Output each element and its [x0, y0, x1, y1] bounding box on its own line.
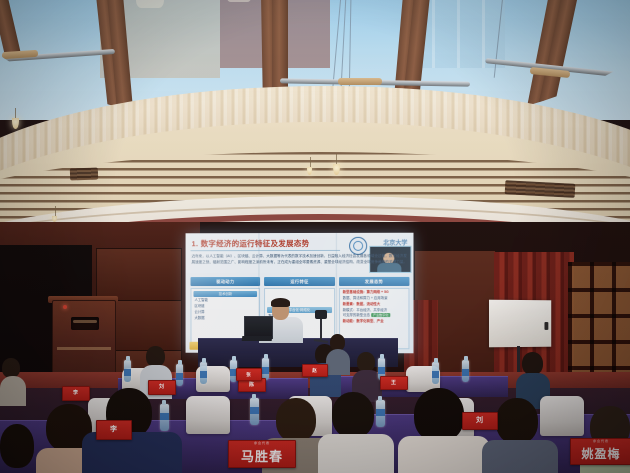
person-torso — [398, 436, 490, 473]
placard-name: 马胜春 — [241, 449, 283, 464]
podium-indicator-light — [63, 305, 67, 309]
column-item: 人工智能 — [194, 298, 256, 303]
person-head — [496, 398, 538, 444]
placard-caption: 参会代表 — [571, 439, 630, 443]
placard-name: 张 — [246, 372, 252, 377]
flipchart-clip — [544, 322, 548, 330]
support-cable — [349, 0, 352, 88]
water-bottle — [432, 362, 439, 384]
laptop-keyboard[interactable] — [242, 336, 273, 341]
name-placard: 刘 — [148, 380, 176, 395]
person-head — [357, 352, 375, 372]
name-placard-yao-yingmei: 参会代表 姚盈梅 — [570, 438, 630, 465]
water-bottle — [376, 400, 385, 427]
item-chip: 产业数字化 — [371, 313, 391, 317]
name-placard: 李 — [96, 420, 132, 440]
statue-silhouette — [136, 0, 164, 8]
person-head — [522, 352, 543, 375]
column-item: 可支撑的新型业态 产业数字化 — [343, 313, 406, 318]
placard-name: 刘 — [159, 384, 165, 390]
camera-tripod — [320, 318, 322, 342]
placard-name: 刘 — [476, 417, 484, 424]
column-item: 新模式：平台经济、共享经济 — [343, 308, 406, 313]
statue-silhouette — [226, 0, 252, 2]
item-keyword: 新型基础设施：算力网络 + 5G — [343, 290, 389, 294]
item-keyword: 新动能：数字化转型、产业 — [343, 319, 384, 323]
water-bottle — [160, 404, 169, 431]
item-text: 可支撑的新型业态 — [343, 313, 370, 317]
column-heading: 发展态势 — [339, 277, 410, 286]
column-item: 数据、算法和算力 + 应用场景 — [343, 296, 406, 301]
bottle-label — [432, 371, 439, 378]
column-item: 云计算 — [194, 310, 256, 315]
presenter-hair — [271, 298, 290, 307]
placard-name: 姚盈梅 — [581, 447, 620, 461]
name-placard: 赵 — [302, 364, 328, 377]
placard-name: 李 — [110, 426, 118, 433]
bottle-label — [462, 369, 469, 376]
person-head — [146, 346, 165, 367]
bottle-label — [376, 409, 385, 416]
flipchart-stand-leg — [517, 346, 520, 372]
placard-name: 赵 — [312, 368, 318, 373]
bottle-label — [378, 367, 385, 374]
water-bottle — [462, 360, 469, 382]
flipchart-whiteboard[interactable] — [489, 300, 551, 348]
person-head — [2, 358, 20, 378]
audience-chair — [186, 396, 230, 434]
water-bottle — [200, 362, 207, 384]
column-heading: 运行特征 — [264, 277, 334, 286]
name-placard: 刘 — [462, 412, 498, 430]
column-heading: 驱动动力 — [191, 277, 261, 286]
column-subbox: 技术创新 — [193, 291, 257, 297]
water-bottle — [262, 358, 269, 380]
wood-panel — [96, 248, 182, 302]
bottle-label — [124, 369, 131, 376]
person-head — [332, 392, 374, 438]
person-head — [276, 398, 316, 442]
bottle-label — [200, 371, 207, 378]
placard-caption: 参会代表 — [229, 441, 295, 445]
window-mullion — [0, 0, 21, 57]
name-placard: 李 — [62, 386, 90, 401]
column-item: 新型基础设施：算力网络 + 5G — [343, 290, 406, 295]
water-bottle — [250, 398, 259, 425]
university-seal-icon — [349, 237, 367, 255]
placard-name: 陈 — [249, 382, 255, 388]
placard-name: 李 — [73, 390, 79, 396]
bottle-label — [262, 367, 269, 374]
water-bottle — [176, 364, 183, 386]
person-torso — [0, 376, 26, 406]
window-rail-wood — [338, 78, 382, 85]
column-item: 新要素：数据，流动性大 — [343, 302, 406, 307]
podium-trim — [57, 347, 111, 350]
slide-title: 1. 数字经济的运行特征及发展态势 — [192, 238, 310, 249]
column-item: 新动能：数字化转型、产业 — [343, 319, 406, 324]
bottle-label — [176, 373, 183, 380]
bottle-label — [250, 407, 259, 414]
slide-title-underline — [191, 250, 341, 251]
slide-body-text: 近年来，以人工智能（AI）、区块链、云计算、大数据等为代表的数字技术加速创新，日… — [192, 254, 410, 265]
person-torso — [318, 434, 394, 473]
conference-hall-photo: 1. 数字经济的运行特征及发展态势 北京大学 近年来，以人工智能（AI）、区块链… — [0, 0, 630, 473]
name-placard: 张 — [236, 368, 262, 381]
support-cable — [341, 0, 349, 88]
person-head — [414, 388, 464, 442]
person-torso — [482, 440, 558, 473]
name-placard: 王 — [380, 376, 408, 390]
name-placard-ma-shengchun: 参会代表 马胜春 — [228, 440, 296, 468]
column-item: 区块链 — [194, 304, 256, 309]
ceiling-air-vent — [70, 168, 98, 181]
person-head — [0, 424, 34, 468]
item-keyword: 新要素：数据，流动性大 — [343, 302, 380, 306]
podium-recess — [71, 317, 99, 330]
person-torso — [326, 349, 350, 375]
bottle-label — [160, 413, 169, 420]
water-bottle — [124, 360, 131, 382]
audience-chair — [540, 396, 584, 436]
placard-name: 王 — [391, 380, 397, 386]
pendant-light — [12, 118, 19, 129]
